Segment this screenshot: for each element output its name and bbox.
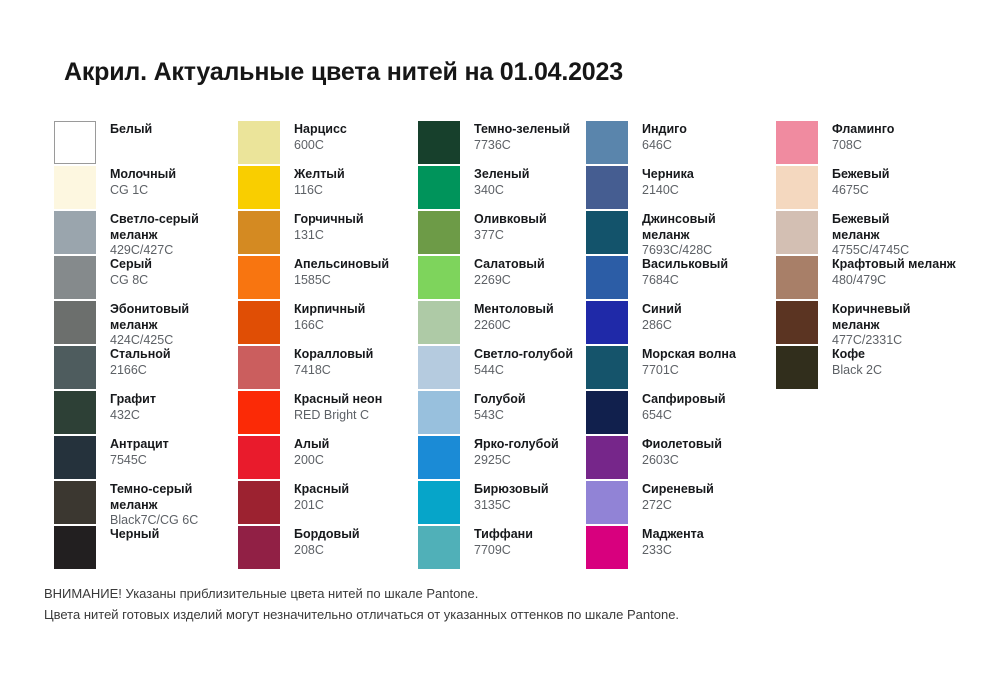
color-name: Коралловый (294, 347, 373, 363)
color-name: Темно-зеленый (474, 122, 570, 138)
color-name: Нарцисс (294, 122, 347, 138)
color-name: Стальной (110, 347, 171, 363)
color-code: 1585C (294, 273, 389, 289)
color-code: 480/479C (832, 273, 956, 289)
color-code: 2140C (642, 183, 694, 199)
disclaimer-notes: ВНИМАНИЕ! Указаны приблизительные цвета … (44, 583, 679, 625)
color-row[interactable]: Темно-зеленый7736C (418, 121, 586, 166)
color-row[interactable]: Черника2140C (586, 166, 776, 211)
color-row[interactable]: МолочныйCG 1C (54, 166, 238, 211)
color-swatch[interactable] (54, 166, 96, 209)
color-name: Бордовый (294, 527, 360, 543)
color-labels: Бордовый208C (294, 526, 360, 558)
color-labels: Стальной2166C (110, 346, 171, 378)
color-name: Сиреневый (642, 482, 714, 498)
color-code: CG 8C (110, 273, 152, 289)
color-code: 2166C (110, 363, 171, 379)
color-swatch[interactable] (54, 301, 96, 344)
color-row[interactable]: Бежевый меланж4755C/4745C (776, 211, 976, 256)
color-code: 166C (294, 318, 365, 334)
color-code: 7701C (642, 363, 736, 379)
color-row[interactable]: Крафтовый меланж480/479C (776, 256, 976, 301)
color-name: Тиффани (474, 527, 533, 543)
color-code: 7418C (294, 363, 373, 379)
color-labels: Коралловый7418C (294, 346, 373, 378)
color-row[interactable]: Бежевый4675C (776, 166, 976, 211)
color-swatch[interactable] (238, 121, 280, 164)
color-row[interactable]: Оливковый377C (418, 211, 586, 256)
color-row[interactable]: Красный201C (238, 481, 418, 526)
color-code: 201C (294, 498, 349, 514)
color-swatch[interactable] (776, 121, 818, 164)
color-name: Бежевый меланж (832, 212, 909, 243)
color-row[interactable]: Черный (54, 526, 238, 571)
color-name: Салатовый (474, 257, 545, 273)
color-row[interactable]: Апельсиновый1585C (238, 256, 418, 301)
column-3: Темно-зеленый7736CЗеленый340CОливковый37… (418, 121, 586, 571)
color-swatch[interactable] (586, 391, 628, 434)
color-name: Кирпичный (294, 302, 365, 318)
color-row[interactable]: Салатовый2269C (418, 256, 586, 301)
color-swatch[interactable] (418, 256, 460, 299)
disclaimer-line: Цвета нитей готовых изделий могут незнач… (44, 604, 679, 625)
color-labels: Черника2140C (642, 166, 694, 198)
color-name: Черника (642, 167, 694, 183)
color-code: 272C (642, 498, 714, 514)
color-labels: Синий286C (642, 301, 682, 333)
color-code: 2269C (474, 273, 545, 289)
color-row[interactable]: Светло-голубой544C (418, 346, 586, 391)
color-name: Бежевый (832, 167, 889, 183)
color-row[interactable]: Бордовый208C (238, 526, 418, 571)
color-swatch[interactable] (586, 436, 628, 479)
color-name: Светло-голубой (474, 347, 573, 363)
color-row[interactable]: Стальной2166C (54, 346, 238, 391)
color-name: Синий (642, 302, 682, 318)
color-code: 286C (642, 318, 682, 334)
color-code: 2925C (474, 453, 559, 469)
color-labels: Бежевый меланж4755C/4745C (832, 211, 909, 259)
color-code: 646C (642, 138, 687, 154)
color-code: 3135C (474, 498, 549, 514)
color-row[interactable]: Фиолетовый2603C (586, 436, 776, 481)
color-name: Крафтовый меланж (832, 257, 956, 273)
color-row[interactable]: Голубой543C (418, 391, 586, 436)
color-swatch[interactable] (586, 301, 628, 344)
color-swatch[interactable] (586, 121, 628, 164)
color-row[interactable]: Индиго646C (586, 121, 776, 166)
color-swatch[interactable] (238, 436, 280, 479)
color-labels: Темно-серый меланжBlack7C/CG 6C (110, 481, 198, 529)
color-name: Антрацит (110, 437, 169, 453)
color-name: Горчичный (294, 212, 364, 228)
color-code: 708C (832, 138, 894, 154)
color-swatch[interactable] (586, 481, 628, 524)
color-swatch[interactable] (54, 436, 96, 479)
color-swatch[interactable] (54, 526, 96, 569)
color-code: 116C (294, 183, 345, 199)
color-code: 544C (474, 363, 573, 379)
color-name: Маджента (642, 527, 704, 543)
color-row[interactable]: Антрацит7545C (54, 436, 238, 481)
color-labels: Бежевый4675C (832, 166, 889, 198)
color-row[interactable]: Горчичный131C (238, 211, 418, 256)
color-labels: Графит432C (110, 391, 156, 423)
color-code: 654C (642, 408, 726, 424)
color-swatch[interactable] (776, 256, 818, 299)
color-labels: Фламинго708C (832, 121, 894, 153)
color-labels: Красный неонRED Bright C (294, 391, 382, 423)
color-code: 7545C (110, 453, 169, 469)
color-swatch[interactable] (54, 256, 96, 299)
color-row[interactable]: Темно-серый меланжBlack7C/CG 6C (54, 481, 238, 526)
color-name: Ярко-голубой (474, 437, 559, 453)
color-swatch[interactable] (418, 121, 460, 164)
color-swatch[interactable] (238, 481, 280, 524)
color-swatch[interactable] (238, 211, 280, 254)
color-swatch[interactable] (586, 346, 628, 389)
color-row[interactable]: Коралловый7418C (238, 346, 418, 391)
color-row[interactable]: Графит432C (54, 391, 238, 436)
color-code: 208C (294, 543, 360, 559)
color-swatch[interactable] (238, 346, 280, 389)
color-row[interactable]: Сапфировый654C (586, 391, 776, 436)
color-swatch[interactable] (238, 166, 280, 209)
color-row[interactable]: Алый200C (238, 436, 418, 481)
color-labels: Бирюзовый3135C (474, 481, 549, 513)
color-swatch[interactable] (54, 346, 96, 389)
color-swatch[interactable] (54, 121, 96, 164)
color-labels: Апельсиновый1585C (294, 256, 389, 288)
color-name: Оливковый (474, 212, 547, 228)
color-row[interactable]: Белый (54, 121, 238, 166)
color-name: Серый (110, 257, 152, 273)
color-row[interactable]: КофеBlack 2C (776, 346, 976, 391)
color-code: 340C (474, 183, 529, 199)
color-row[interactable]: Васильковый7684C (586, 256, 776, 301)
color-row[interactable]: Джинсовый меланж7693C/428C (586, 211, 776, 256)
color-swatch[interactable] (418, 526, 460, 569)
color-code: Black 2C (832, 363, 882, 379)
disclaimer-line: ВНИМАНИЕ! Указаны приблизительные цвета … (44, 583, 679, 604)
color-row[interactable]: Ментоловый2260C (418, 301, 586, 346)
color-swatch[interactable] (238, 256, 280, 299)
color-row[interactable]: Нарцисс600C (238, 121, 418, 166)
color-labels: Салатовый2269C (474, 256, 545, 288)
color-swatch[interactable] (776, 166, 818, 209)
color-labels: Морская волна7701C (642, 346, 736, 378)
color-row[interactable]: Светло-серый меланж429C/427C (54, 211, 238, 256)
color-row[interactable]: Ярко-голубой2925C (418, 436, 586, 481)
color-labels: СерыйCG 8C (110, 256, 152, 288)
color-name: Красный (294, 482, 349, 498)
color-labels: Сиреневый272C (642, 481, 714, 513)
color-name: Бирюзовый (474, 482, 549, 498)
color-swatch[interactable] (586, 526, 628, 569)
color-swatch[interactable] (586, 256, 628, 299)
color-swatch[interactable] (418, 346, 460, 389)
color-labels: Крафтовый меланж480/479C (832, 256, 956, 288)
color-labels: Джинсовый меланж7693C/428C (642, 211, 716, 259)
color-row[interactable]: Синий286C (586, 301, 776, 346)
color-labels: МолочныйCG 1C (110, 166, 176, 198)
color-code: 7684C (642, 273, 728, 289)
color-code: 4675C (832, 183, 889, 199)
color-row[interactable]: Сиреневый272C (586, 481, 776, 526)
color-labels: Эбонитовый меланж424C/425C (110, 301, 189, 349)
color-name: Сапфировый (642, 392, 726, 408)
color-swatch[interactable] (776, 301, 818, 344)
color-row[interactable]: Зеленый340C (418, 166, 586, 211)
color-swatch[interactable] (54, 211, 96, 254)
color-name: Графит (110, 392, 156, 408)
color-labels: Тиффани7709C (474, 526, 533, 558)
color-name: Васильковый (642, 257, 728, 273)
color-labels: Темно-зеленый7736C (474, 121, 570, 153)
color-row[interactable]: Тиффани7709C (418, 526, 586, 571)
color-row[interactable]: Кирпичный166C (238, 301, 418, 346)
color-labels: Зеленый340C (474, 166, 529, 198)
color-name: Джинсовый меланж (642, 212, 716, 243)
color-code: 377C (474, 228, 547, 244)
color-name: Фиолетовый (642, 437, 722, 453)
color-row[interactable]: Морская волна7701C (586, 346, 776, 391)
color-code: 131C (294, 228, 364, 244)
color-code: 7709C (474, 543, 533, 559)
color-name: Морская волна (642, 347, 736, 363)
color-swatch[interactable] (586, 211, 628, 254)
color-row[interactable]: Маджента233C (586, 526, 776, 571)
color-row[interactable]: Фламинго708C (776, 121, 976, 166)
color-code: 2603C (642, 453, 722, 469)
color-name: Ментоловый (474, 302, 554, 318)
color-labels: Нарцисс600C (294, 121, 347, 153)
color-labels: Ярко-голубой2925C (474, 436, 559, 468)
color-code: 2260C (474, 318, 554, 334)
color-labels: Белый (110, 121, 152, 138)
color-name: Кофе (832, 347, 882, 363)
color-name: Апельсиновый (294, 257, 389, 273)
color-swatch[interactable] (586, 166, 628, 209)
color-code: 543C (474, 408, 526, 424)
color-name: Красный неон (294, 392, 382, 408)
color-labels: Светло-голубой544C (474, 346, 573, 378)
color-name: Фламинго (832, 122, 894, 138)
color-row[interactable]: СерыйCG 8C (54, 256, 238, 301)
color-chart-page: Акрил. Актуальные цвета нитей на 01.04.2… (0, 0, 1000, 683)
color-row[interactable]: Коричневый меланж477C/2331C (776, 301, 976, 346)
color-name: Эбонитовый меланж (110, 302, 189, 333)
color-swatch[interactable] (238, 301, 280, 344)
color-row[interactable]: Красный неонRED Bright C (238, 391, 418, 436)
color-name: Светло-серый меланж (110, 212, 199, 243)
column-5: Фламинго708CБежевый4675CБежевый меланж47… (776, 121, 976, 391)
color-swatch[interactable] (54, 481, 96, 524)
color-row[interactable]: Желтый116C (238, 166, 418, 211)
page-title: Акрил. Актуальные цвета нитей на 01.04.2… (64, 58, 623, 87)
color-columns: БелыйМолочныйCG 1CСветло-серый меланж429… (54, 121, 984, 571)
color-name: Темно-серый меланж (110, 482, 198, 513)
color-swatch[interactable] (238, 526, 280, 569)
color-swatch[interactable] (776, 346, 818, 389)
color-row[interactable]: Бирюзовый3135C (418, 481, 586, 526)
color-code: RED Bright C (294, 408, 382, 424)
color-labels: Горчичный131C (294, 211, 364, 243)
color-labels: Коричневый меланж477C/2331C (832, 301, 910, 349)
color-name: Алый (294, 437, 329, 453)
color-labels: Черный (110, 526, 159, 543)
color-labels: Индиго646C (642, 121, 687, 153)
color-swatch[interactable] (418, 481, 460, 524)
color-code: CG 1C (110, 183, 176, 199)
color-labels: Светло-серый меланж429C/427C (110, 211, 199, 259)
color-labels: Алый200C (294, 436, 329, 468)
column-1: БелыйМолочныйCG 1CСветло-серый меланж429… (54, 121, 238, 571)
color-labels: Ментоловый2260C (474, 301, 554, 333)
color-swatch[interactable] (238, 391, 280, 434)
color-labels: Голубой543C (474, 391, 526, 423)
color-code: 600C (294, 138, 347, 154)
color-swatch[interactable] (418, 391, 460, 434)
color-code: 233C (642, 543, 704, 559)
color-name: Черный (110, 527, 159, 543)
color-swatch[interactable] (418, 436, 460, 479)
color-labels: Сапфировый654C (642, 391, 726, 423)
color-swatch[interactable] (54, 391, 96, 434)
color-swatch[interactable] (776, 211, 818, 254)
color-name: Молочный (110, 167, 176, 183)
color-labels: Маджента233C (642, 526, 704, 558)
color-name: Белый (110, 122, 152, 138)
color-labels: Кирпичный166C (294, 301, 365, 333)
color-row[interactable]: Эбонитовый меланж424C/425C (54, 301, 238, 346)
color-labels: Антрацит7545C (110, 436, 169, 468)
color-name: Желтый (294, 167, 345, 183)
color-labels: Васильковый7684C (642, 256, 728, 288)
color-name: Индиго (642, 122, 687, 138)
column-4: Индиго646CЧерника2140CДжинсовый меланж76… (586, 121, 776, 571)
color-swatch[interactable] (418, 301, 460, 344)
color-name: Зеленый (474, 167, 529, 183)
color-code: 432C (110, 408, 156, 424)
color-labels: Красный201C (294, 481, 349, 513)
color-code: 200C (294, 453, 329, 469)
color-swatch[interactable] (418, 211, 460, 254)
color-labels: КофеBlack 2C (832, 346, 882, 378)
color-labels: Оливковый377C (474, 211, 547, 243)
color-name: Голубой (474, 392, 526, 408)
color-swatch[interactable] (418, 166, 460, 209)
color-labels: Желтый116C (294, 166, 345, 198)
color-name: Коричневый меланж (832, 302, 910, 333)
color-labels: Фиолетовый2603C (642, 436, 722, 468)
column-2: Нарцисс600CЖелтый116CГорчичный131CАпельс… (238, 121, 418, 571)
color-code: 7736C (474, 138, 570, 154)
